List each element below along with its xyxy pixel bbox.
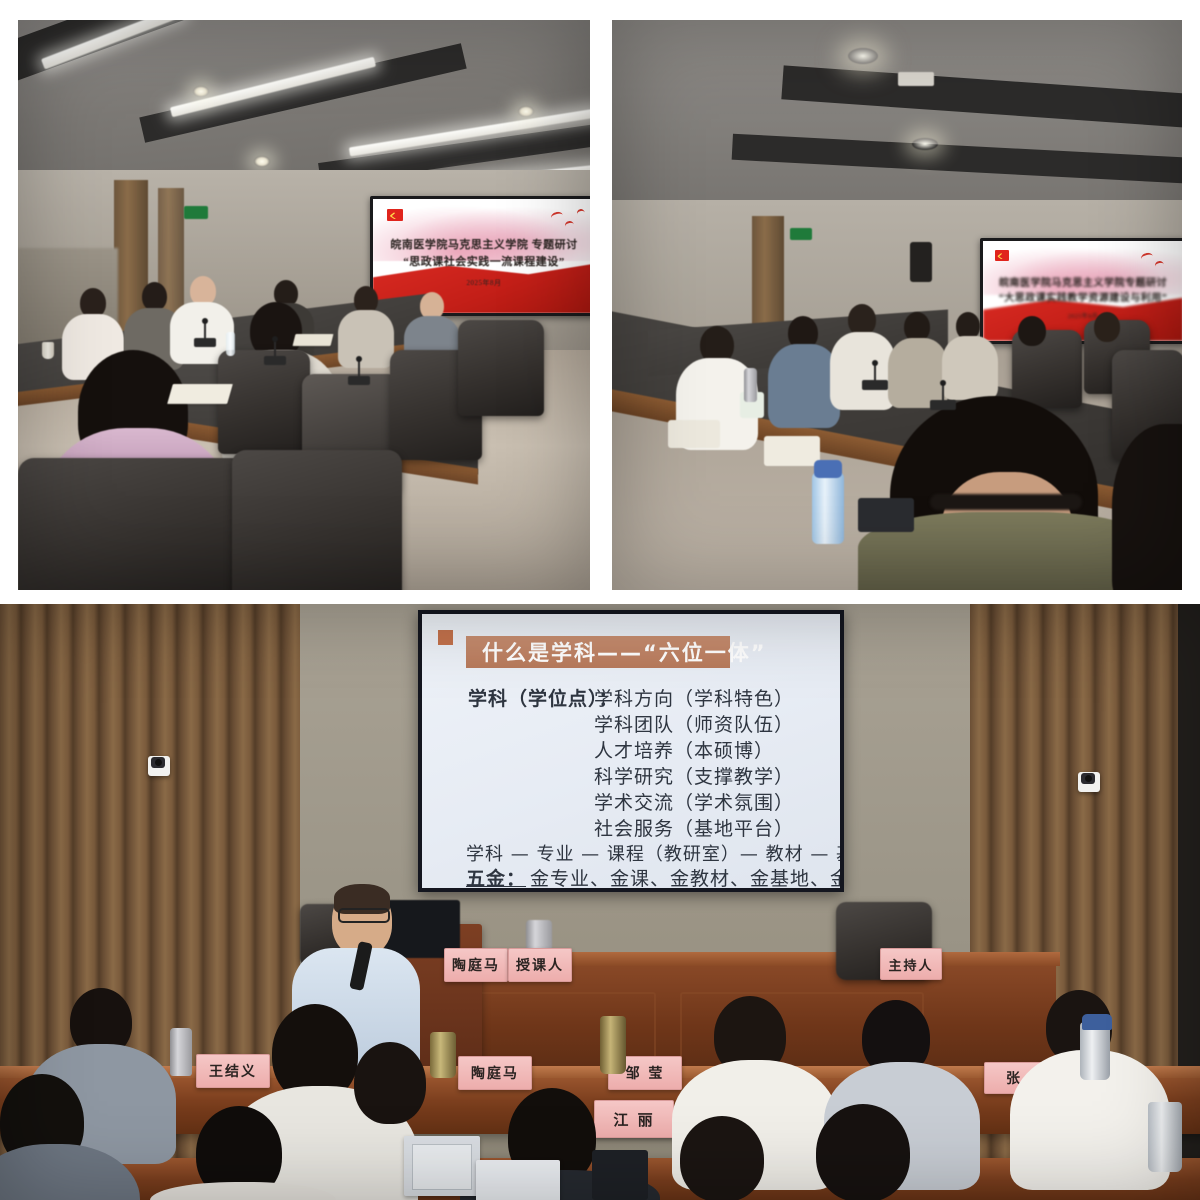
placard-taotingma-head: 陶庭马 (444, 948, 508, 982)
placard-jiangli: 江 丽 (594, 1100, 674, 1138)
office-chair (458, 320, 544, 416)
wall-speaker (910, 242, 932, 282)
right-screen-date: 2025年8月 (983, 311, 1182, 320)
slide-title: 什么是学科——“六位一体” (482, 637, 767, 667)
tumbler (1080, 1022, 1110, 1080)
tumbler-cap (1082, 1014, 1112, 1030)
notebook (476, 1160, 560, 1200)
right-screen-title: 皖南医学院马克思主义学院专题研讨 (983, 274, 1182, 289)
downlight (518, 106, 534, 117)
party-emblem-icon (387, 209, 403, 221)
ptz-camera-left-icon (148, 756, 170, 776)
bottom-photo: 什么是学科——“六位一体” 学科（学位点）： 学科方向（学科特色） 学科团队（师… (0, 604, 1200, 1200)
office-chair (232, 450, 402, 590)
water-bottle (226, 332, 235, 356)
slide-wujin-label: 五金： (466, 864, 526, 888)
placard-moderator-role: 主持人 (880, 948, 942, 980)
downlight (193, 86, 209, 97)
downlight (254, 156, 270, 167)
document (167, 384, 233, 404)
slide-chain-line: 学科 — 专业 — 课程（教研室）— 教材 — 基地（平台）— 教师 (466, 840, 840, 866)
slide-title-bar: 什么是学科——“六位一体” (466, 636, 730, 668)
thermos (170, 1028, 192, 1076)
bag (592, 1150, 648, 1200)
slide-item-0: 学科方向（学科特色） (594, 684, 794, 711)
bottle-cap (814, 460, 842, 478)
office-chair (218, 350, 310, 454)
right-screen-topic: “大思政课实践教学资源建设与利用” (983, 289, 1182, 304)
exit-sign (790, 228, 812, 240)
slide-item-4: 学术交流（学术氛围） (594, 788, 794, 815)
tea-tumbler (430, 1032, 456, 1078)
desk-microphone (348, 376, 370, 385)
thermos (744, 368, 757, 402)
left-screen-topic: “思政课社会实践一流课程建设” (373, 253, 590, 269)
ptz-camera-right-icon (1078, 772, 1100, 792)
slide-item-1: 学科团队（师资队伍） (594, 710, 794, 737)
office-chair (18, 458, 248, 590)
slide-wujin-line: 金专业、金课、金教材、金基地、金师 (530, 864, 840, 888)
left-screen-title: 皖南医学院马克思主义学院 专题研讨 (373, 236, 590, 252)
placard-taotingma: 陶庭马 (458, 1056, 532, 1090)
tissue-box (764, 436, 820, 466)
tumbler (1148, 1102, 1182, 1172)
left-screen-date: 2025年8月 (373, 278, 590, 288)
placard-wangjieyi: 王结义 (196, 1054, 270, 1088)
slide-item-3: 科学研究（支撑教学） (594, 762, 794, 789)
slide-surface: 什么是学科——“六位一体” 学科（学位点）： 学科方向（学科特色） 学科团队（师… (422, 614, 840, 888)
desk-microphone (194, 338, 216, 347)
downlight (848, 48, 878, 64)
slide-item-2: 人才培养（本硕博） (594, 736, 774, 763)
smartphone (858, 498, 914, 532)
exit-sign (184, 206, 208, 219)
led-screen: 皖南医学院马克思主义学院专题研讨 “大思政课实践教学资源建设与利用” 2025年… (980, 238, 1182, 344)
slide-item-5: 社会服务（基地平台） (594, 814, 794, 841)
projection-screen: 什么是学科——“六位一体” 学科（学位点）： 学科方向（学科特色） 学科团队（师… (418, 610, 844, 892)
water-bottle (812, 472, 844, 544)
tea-tumbler (600, 1016, 626, 1074)
paper-cup (42, 342, 54, 359)
placard-lecturer-role: 授课人 (508, 948, 572, 982)
desk-microphone (930, 400, 956, 410)
ceiling-vent (898, 72, 934, 86)
tissue-box (668, 420, 720, 448)
top-right-photo: 皖南医学院马克思主义学院专题研讨 “大思政课实践教学资源建设与利用” 2025年… (612, 20, 1182, 590)
document (293, 334, 334, 346)
party-emblem-icon (995, 250, 1009, 261)
ceiling (612, 20, 1182, 230)
slide-bullet-marker (438, 630, 453, 645)
desk-microphone (264, 356, 286, 365)
downlight (912, 138, 938, 150)
desk-microphone (862, 380, 888, 390)
photo-collage: 皖南医学院马克思主义学院 专题研讨 “思政课社会实践一流课程建设” 2025年8… (0, 0, 1200, 1200)
glasses-icon (338, 908, 390, 923)
top-left-photo: 皖南医学院马克思主义学院 专题研讨 “思政课社会实践一流课程建设” 2025年8… (18, 20, 590, 590)
laptop-screen (412, 1144, 472, 1190)
